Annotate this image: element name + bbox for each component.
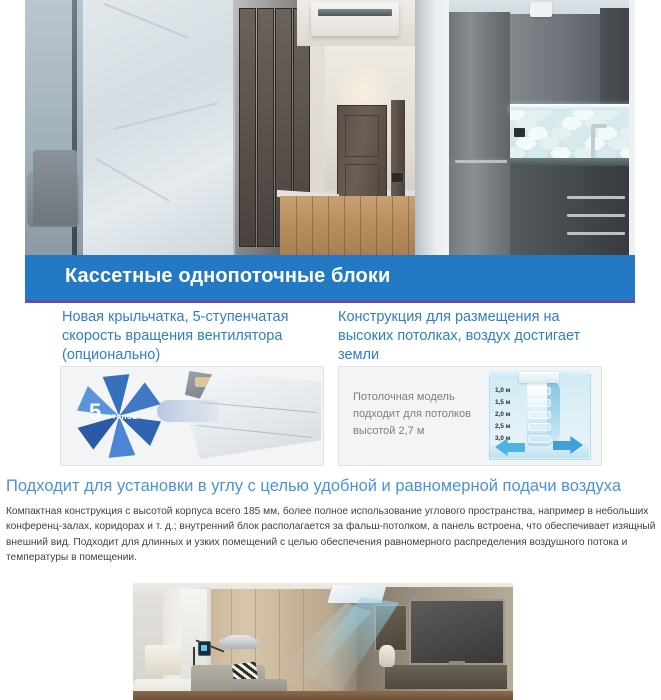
hero-photo-strip xyxy=(25,0,635,255)
feature-card-high-ceiling: Потолочная модель подходит для потолков … xyxy=(338,366,602,466)
height-scale-label: 3,0 м xyxy=(495,435,510,442)
badge-number: 5 xyxy=(89,401,101,423)
countertop xyxy=(510,158,635,166)
wall-switch xyxy=(391,172,404,183)
feature-heading-high-ceiling: Конструкция для размещения на высоких по… xyxy=(338,308,600,365)
feature-column-right: Конструкция для размещения на высоких по… xyxy=(338,308,600,365)
feature-heading-fan-speed: Новая крыльчатка, 5-ступенчатая скорость… xyxy=(62,308,322,365)
height-scale-label: 1,5 м xyxy=(495,399,510,406)
airflow-rung xyxy=(528,423,551,431)
feature-card-fan-speed: 5 этапов xyxy=(60,366,324,466)
ceiling-caption: Потолочная модель подходит для потолков … xyxy=(353,389,475,440)
wooden-floor xyxy=(280,196,415,255)
kitchen-outlet xyxy=(514,128,525,137)
hexagon-tile-backsplash xyxy=(510,110,635,160)
hotel-room-photo xyxy=(133,583,513,700)
lower-cabinets xyxy=(510,166,635,255)
television xyxy=(409,599,505,665)
corridor-photo xyxy=(25,0,415,255)
wardrobe-panel xyxy=(257,8,274,247)
banner-underline xyxy=(25,300,635,303)
room-floor xyxy=(133,691,513,700)
height-scale-label: 2,5 м xyxy=(495,423,510,430)
airflow-rung xyxy=(528,399,551,407)
airflow-rung xyxy=(528,387,551,395)
floor-plank-seam xyxy=(376,196,377,255)
kitchen-left-wall xyxy=(415,0,449,255)
upper-cabinets xyxy=(510,14,600,106)
height-scale-label: 2,0 м xyxy=(495,411,510,418)
wall-sensor xyxy=(530,2,552,17)
drawer-handle xyxy=(567,196,625,199)
kitchen-photo xyxy=(415,0,635,255)
wardrobe-panel xyxy=(239,8,256,247)
floor-plank-seam xyxy=(408,196,409,255)
console-table xyxy=(385,665,507,689)
drawer-handle xyxy=(567,232,625,235)
brochure-page: Кассетные однопоточные блоки Новая крыль… xyxy=(0,0,661,700)
banner-title: Кассетные однопоточные блоки xyxy=(65,265,390,288)
floor-plank-seam xyxy=(360,196,361,255)
ceiling-cassette-unit xyxy=(311,2,399,36)
floor-plank-seam xyxy=(328,196,329,255)
section-banner: Кассетные однопоточные блоки xyxy=(25,255,635,300)
badge-label: этапов xyxy=(107,411,138,421)
floor-plank-seam xyxy=(312,196,313,255)
drawer-handle xyxy=(567,214,625,217)
airflow-rung xyxy=(528,435,551,443)
section-heading: Подходит для установки в углу с целью уд… xyxy=(6,477,621,496)
floor-plank-seam xyxy=(392,196,393,255)
wood-panel-seam xyxy=(279,589,280,693)
height-scale-label: 1,0 м xyxy=(495,387,510,394)
floor-plank-seam xyxy=(344,196,345,255)
marble-wall-veins xyxy=(83,0,235,255)
kitchen-right-wall xyxy=(629,0,635,255)
airflow-height-diagram: 1,0 м1,5 м2,0 м2,5 м3,0 м xyxy=(481,370,597,462)
lower-left-cabinet xyxy=(449,158,510,255)
bedside-lamp xyxy=(145,645,181,675)
drawer-handle xyxy=(455,160,507,163)
floor-plank-seam xyxy=(296,196,297,255)
kitchen-faucet xyxy=(591,126,595,160)
airflow-rung xyxy=(528,411,551,419)
feature-column-left: Новая крыльчатка, 5-ступенчатая скорость… xyxy=(62,308,322,365)
ceiling-unit-diagram xyxy=(519,372,559,383)
sofa-back xyxy=(33,150,77,225)
decorative-vase xyxy=(379,645,395,667)
wall-control-panel xyxy=(198,641,211,656)
section-paragraph: Компактная конструкция с высотой корпуса… xyxy=(6,504,656,566)
